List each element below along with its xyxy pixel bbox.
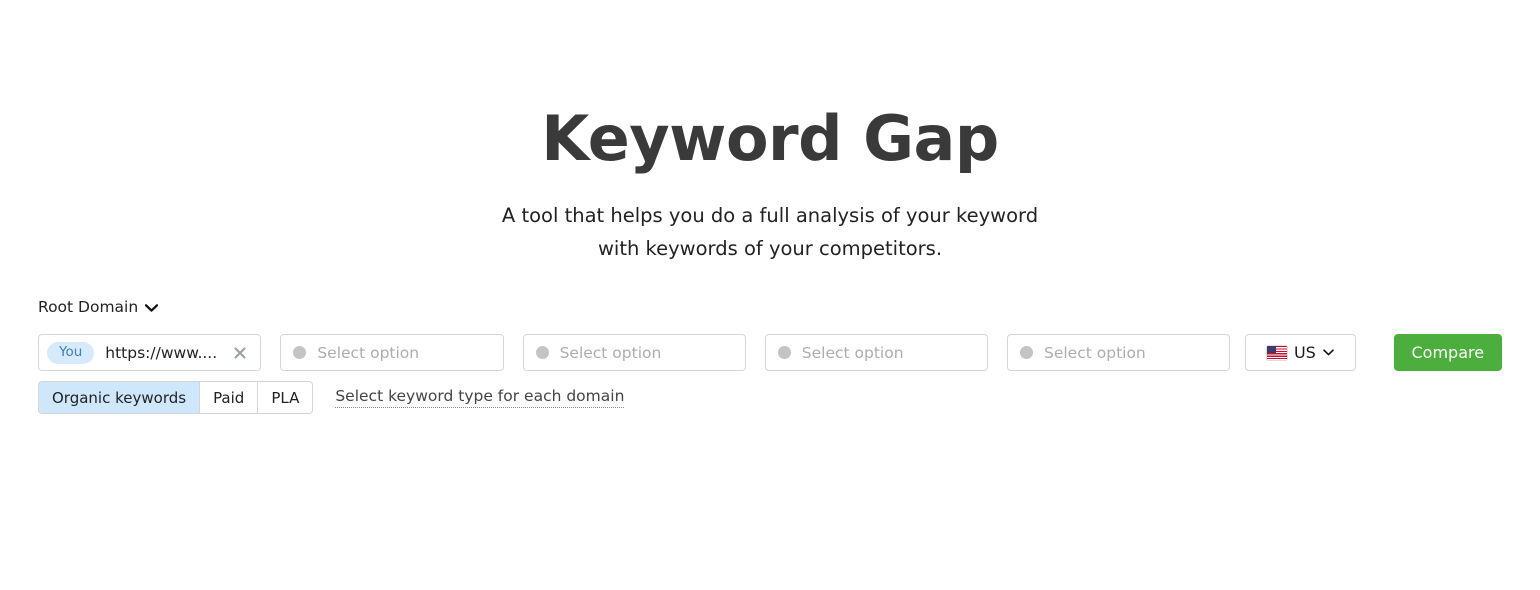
circle-icon xyxy=(536,346,549,359)
subtitle-line-2: with keywords of your competitors. xyxy=(598,237,942,260)
competitor-placeholder-2: Select option xyxy=(560,344,662,362)
domain-input-row: You https://www.... Select option Select… xyxy=(38,334,1502,371)
us-flag-icon xyxy=(1267,346,1287,360)
close-icon[interactable] xyxy=(230,343,250,363)
subtitle-line-1: A tool that helps you do a full analysis… xyxy=(502,204,1038,227)
competitor-placeholder-1: Select option xyxy=(317,344,419,362)
your-domain-value: https://www.... xyxy=(105,344,230,362)
you-badge: You xyxy=(47,342,94,364)
circle-icon xyxy=(293,346,306,359)
competitor-placeholder-4: Select option xyxy=(1044,344,1146,362)
country-code: US xyxy=(1294,344,1316,362)
country-selector[interactable]: US xyxy=(1245,334,1355,371)
competitor-placeholder-3: Select option xyxy=(802,344,904,362)
keyword-type-pla[interactable]: PLA xyxy=(258,382,312,413)
your-domain-input[interactable]: You https://www.... xyxy=(38,334,261,371)
keyword-type-row: Organic keywords Paid PLA Select keyword… xyxy=(38,381,1502,414)
chevron-down-icon xyxy=(1323,349,1334,356)
circle-icon xyxy=(778,346,791,359)
page-subtitle: A tool that helps you do a full analysis… xyxy=(0,170,1540,265)
page-title: Keyword Gap xyxy=(0,108,1540,170)
select-keyword-type-link[interactable]: Select keyword type for each domain xyxy=(335,387,624,408)
keyword-type-segmented-control: Organic keywords Paid PLA xyxy=(38,381,313,414)
circle-icon xyxy=(1020,346,1033,359)
domain-type-selector[interactable]: Root Domain xyxy=(38,297,158,317)
compare-button[interactable]: Compare xyxy=(1394,334,1502,371)
competitor-input-4[interactable]: Select option xyxy=(1007,334,1230,371)
chevron-down-icon xyxy=(145,304,158,312)
competitor-input-3[interactable]: Select option xyxy=(765,334,988,371)
competitor-input-1[interactable]: Select option xyxy=(280,334,503,371)
controls-section: Root Domain You https://www.... xyxy=(38,297,1502,414)
domain-type-label: Root Domain xyxy=(38,297,138,317)
competitor-input-2[interactable]: Select option xyxy=(523,334,746,371)
hero-section: Keyword Gap A tool that helps you do a f… xyxy=(0,0,1540,265)
keyword-gap-page: Keyword Gap A tool that helps you do a f… xyxy=(0,0,1540,590)
keyword-type-paid[interactable]: Paid xyxy=(200,382,258,413)
keyword-type-organic[interactable]: Organic keywords xyxy=(39,382,200,413)
